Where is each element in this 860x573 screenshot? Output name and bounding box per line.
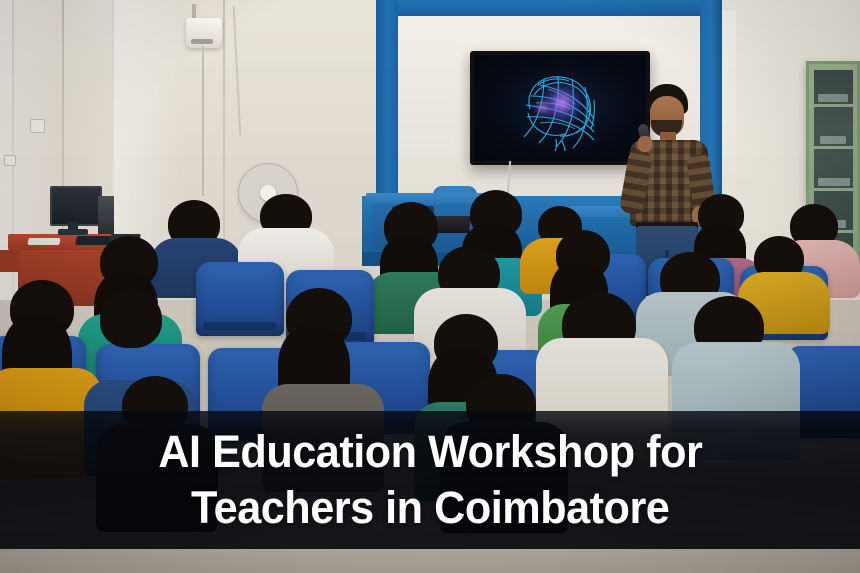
ai-brain-graphic-icon (500, 65, 620, 151)
workshop-banner: AI Education Workshop for Teachers in Co… (0, 0, 860, 573)
cabinet-shelf (814, 104, 853, 107)
cabinet-shelf (814, 146, 853, 149)
wall-air-conditioner-icon (186, 18, 222, 48)
person-head (100, 290, 162, 348)
ac-pipe (202, 46, 204, 196)
wall-socket (4, 155, 16, 166)
cabinet-contents (818, 94, 848, 102)
cabinet-shelf (814, 188, 853, 191)
presenter-hand-holding-mic (638, 136, 652, 152)
cabinet-contents (818, 178, 850, 186)
title-overlay: AI Education Workshop for Teachers in Co… (0, 411, 860, 549)
stage-frame-left (376, 0, 398, 215)
wall-socket (30, 119, 45, 133)
auditorium-chair (196, 262, 284, 336)
title-line-1: AI Education Workshop for (158, 424, 702, 480)
brain-glow-secondary (531, 98, 555, 118)
title-line-2: Teachers in Coimbatore (191, 480, 669, 536)
cabinet-contents (820, 136, 846, 144)
stage-frame-top (376, 0, 721, 16)
